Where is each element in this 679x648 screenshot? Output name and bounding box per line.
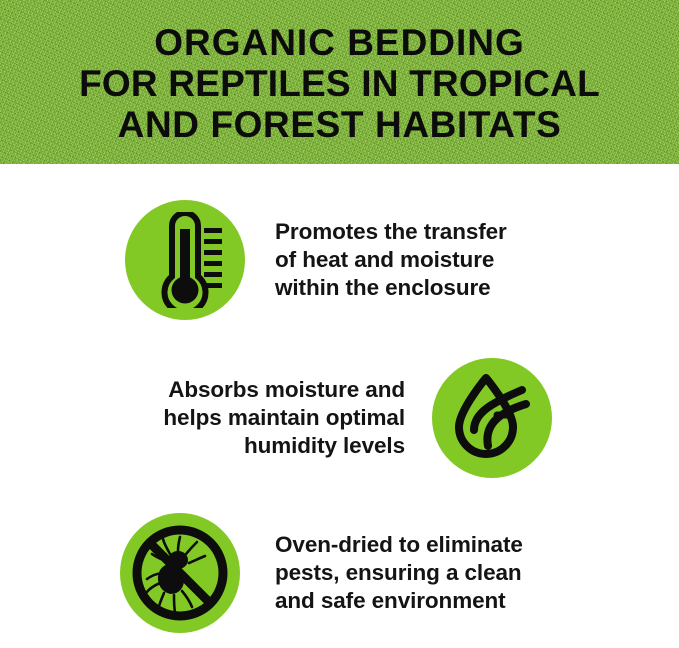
feature-3-line-3: and safe environment — [275, 587, 523, 615]
feature-row-pest-free: Oven-dried to eliminate pests, ensuring … — [0, 513, 679, 633]
icon-badge-pest-free — [120, 513, 240, 633]
water-drop-leaf-icon — [450, 372, 534, 464]
infographic-page: ORGANIC BEDDING FOR REPTILES IN TROPICAL… — [0, 0, 679, 648]
title-line-2: FOR REPTILES IN TROPICAL — [0, 63, 679, 104]
thermometer-icon — [142, 212, 228, 308]
feature-3-line-1: Oven-dried to eliminate — [275, 531, 523, 559]
feature-text-thermometer: Promotes the transfer of heat and moistu… — [275, 218, 507, 302]
no-pest-icon — [128, 521, 232, 625]
page-title: ORGANIC BEDDING FOR REPTILES IN TROPICAL… — [0, 22, 679, 145]
feature-2-line-1: Absorbs moisture and — [115, 376, 405, 404]
header-banner: ORGANIC BEDDING FOR REPTILES IN TROPICAL… — [0, 0, 679, 164]
feature-row-thermometer: Promotes the transfer of heat and moistu… — [0, 200, 679, 320]
feature-text-pest-free: Oven-dried to eliminate pests, ensuring … — [275, 531, 523, 615]
feature-3-line-2: pests, ensuring a clean — [275, 559, 523, 587]
title-line-3: AND FOREST HABITATS — [0, 104, 679, 145]
feature-1-line-1: Promotes the transfer — [275, 218, 507, 246]
feature-text-humidity: Absorbs moisture and helps maintain opti… — [115, 376, 405, 460]
icon-badge-humidity — [432, 358, 552, 478]
feature-2-line-3: humidity levels — [115, 432, 405, 460]
icon-badge-thermometer — [125, 200, 245, 320]
feature-2-line-2: helps maintain optimal — [115, 404, 405, 432]
feature-row-humidity: Absorbs moisture and helps maintain opti… — [0, 358, 679, 478]
feature-1-line-3: within the enclosure — [275, 274, 507, 302]
feature-1-line-2: of heat and moisture — [275, 246, 507, 274]
title-line-1: ORGANIC BEDDING — [0, 22, 679, 63]
